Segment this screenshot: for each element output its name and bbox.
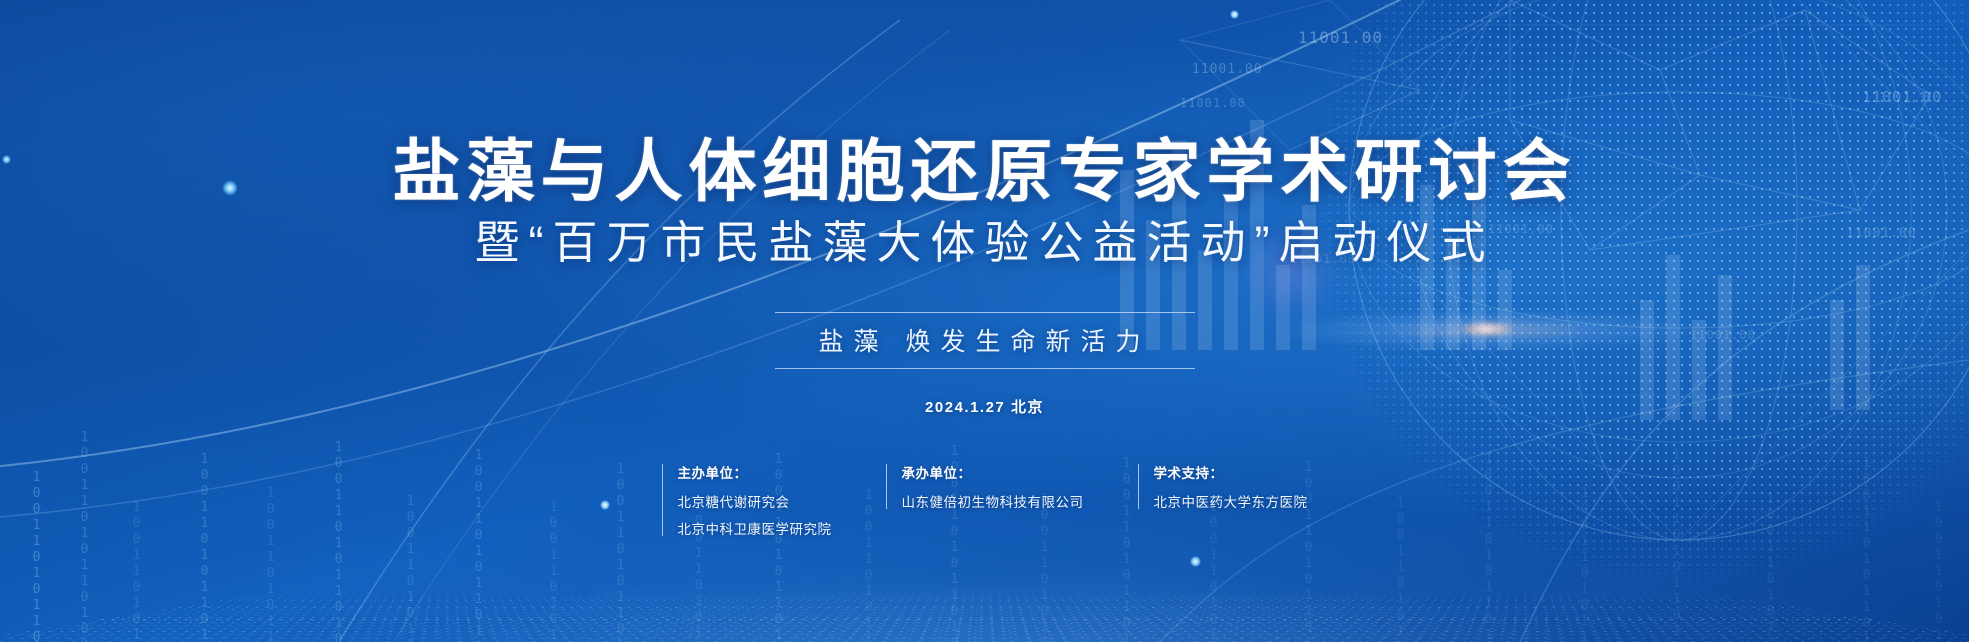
tagline-container: 盐藻 焕发生命新活力	[0, 312, 1969, 369]
conference-banner: 1001101011010010110100101101001011010010…	[0, 0, 1969, 642]
banner-content: 盐藻与人体细胞还原专家学术研讨会 暨“百万市民盐藻大体验公益活动”启动仪式 盐藻…	[0, 0, 1969, 642]
organizer-block-host: 主办单位： 北京糖代谢研究会 北京中科卫康医学研究院	[662, 462, 832, 538]
organizer-name: 北京中医药大学东方医院	[1154, 491, 1308, 511]
organizer-block-academic-support: 学术支持： 北京中医药大学东方医院	[1138, 462, 1308, 511]
organizer-block-undertaker: 承办单位： 山东健倍初生物科技有限公司	[886, 462, 1084, 511]
organizer-name: 山东健倍初生物科技有限公司	[902, 491, 1084, 511]
tagline-box: 盐藻 焕发生命新活力	[775, 312, 1195, 369]
organizer-name: 北京糖代谢研究会	[678, 491, 832, 511]
organizer-heading: 学术支持：	[1154, 462, 1308, 482]
date-location: 2024.1.27 北京	[0, 396, 1969, 417]
organizer-name: 北京中科卫康医学研究院	[678, 518, 832, 538]
organizer-heading: 承办单位：	[902, 462, 1084, 482]
page-title: 盐藻与人体细胞还原专家学术研讨会	[0, 116, 1969, 215]
organizer-heading: 主办单位：	[678, 462, 832, 482]
organizer-list: 主办单位： 北京糖代谢研究会 北京中科卫康医学研究院 承办单位： 山东健倍初生物…	[0, 462, 1969, 538]
page-subtitle: 暨“百万市民盐藻大体验公益活动”启动仪式	[0, 206, 1969, 271]
tagline: 盐藻 焕发生命新活力	[775, 322, 1195, 358]
